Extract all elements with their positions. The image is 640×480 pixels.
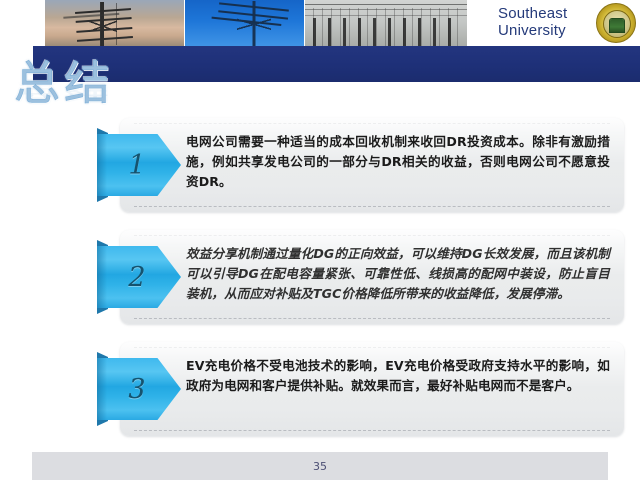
slide: Southeast University 总结 总结 1 电网公司需要一种适当的… [0, 0, 640, 480]
pylon-shape [89, 4, 117, 46]
header-photo-strip [45, 0, 468, 46]
brand-line-2: University [498, 22, 594, 39]
brand-line-1: Southeast [498, 5, 594, 22]
list-item-text: 效益分享机制通过量化DG的正向效益，可以维持DG长效发展，而且该机制可以引导DG… [186, 244, 610, 304]
step-badge-2: 2 [97, 246, 181, 308]
list-item: 3 EV充电价格不受电池技术的影响，EV充电价格受政府支持水平的影响，如政府为电… [120, 342, 624, 436]
university-seal-icon [596, 3, 636, 43]
page-title: 总结 总结 [14, 58, 314, 124]
page-number: 35 [32, 452, 608, 480]
pylon-shape [237, 1, 271, 46]
slide-header: Southeast University [0, 0, 640, 46]
transmission-tower-blue-sky-photo [185, 0, 305, 46]
step-number: 2 [97, 246, 171, 308]
step-number: 3 [97, 358, 171, 420]
transmission-tower-sunset-photo [45, 0, 185, 46]
list-item-text: 电网公司需要一种适当的成本回收机制来收回DR投资成本。除非有激励措施，例如共享发… [186, 132, 610, 192]
substation-switchyard-photo [305, 0, 468, 46]
list-item: 2 效益分享机制通过量化DG的正向效益，可以维持DG长效发展，而且该机制可以引导… [120, 230, 624, 324]
step-badge-3: 3 [97, 358, 181, 420]
page-title-reflection: 总结 [14, 78, 114, 101]
brand-name: Southeast University [498, 5, 594, 39]
step-number: 1 [97, 134, 171, 196]
list-item: 1 电网公司需要一种适当的成本回收机制来收回DR投资成本。除非有激励措施，例如共… [120, 118, 624, 212]
step-badge-1: 1 [97, 134, 181, 196]
list-item-text: EV充电价格不受电池技术的影响，EV充电价格受政府支持水平的影响，如政府为电网和… [186, 356, 610, 396]
slide-footer: 35 [32, 452, 608, 480]
